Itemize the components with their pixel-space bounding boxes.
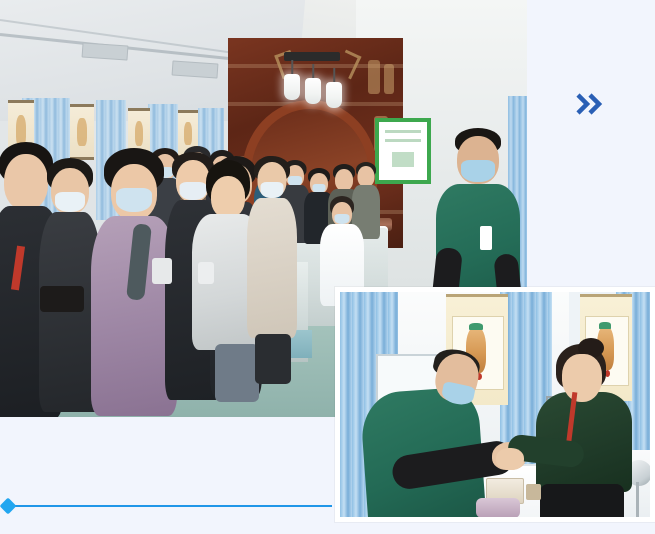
double-chevron-right-icon bbox=[576, 93, 604, 115]
lamp-arm bbox=[636, 482, 639, 517]
divider-diamond-marker bbox=[0, 498, 16, 515]
photo-inset-scene bbox=[340, 292, 650, 517]
gallery-stage bbox=[0, 0, 655, 534]
instrument-pouch bbox=[476, 498, 520, 517]
ceiling-vent bbox=[172, 60, 219, 78]
visitor-in-plaid-coat bbox=[252, 156, 292, 382]
woman-trousers bbox=[540, 484, 624, 517]
timeline-divider bbox=[0, 498, 340, 514]
wall-certificate bbox=[375, 118, 431, 184]
visitor-in-grey-puffer bbox=[186, 160, 256, 392]
staff-in-green-scrubs bbox=[436, 128, 520, 308]
instrument-box bbox=[526, 484, 541, 500]
id-badge bbox=[480, 226, 492, 250]
ceiling-vent bbox=[82, 42, 129, 60]
smartphone bbox=[40, 286, 84, 312]
pendant-lamp bbox=[305, 78, 321, 104]
handheld-item bbox=[198, 262, 214, 284]
handheld-item bbox=[152, 258, 172, 284]
pendant-lamp bbox=[284, 74, 300, 100]
treatment-demonstration-photo[interactable] bbox=[335, 287, 655, 522]
woman-head bbox=[562, 354, 602, 402]
divider-line bbox=[8, 505, 332, 507]
pendant-lamp bbox=[326, 82, 342, 108]
scroll-painting bbox=[70, 104, 94, 160]
woman-hand bbox=[496, 448, 524, 470]
next-slide-button[interactable] bbox=[570, 86, 610, 122]
